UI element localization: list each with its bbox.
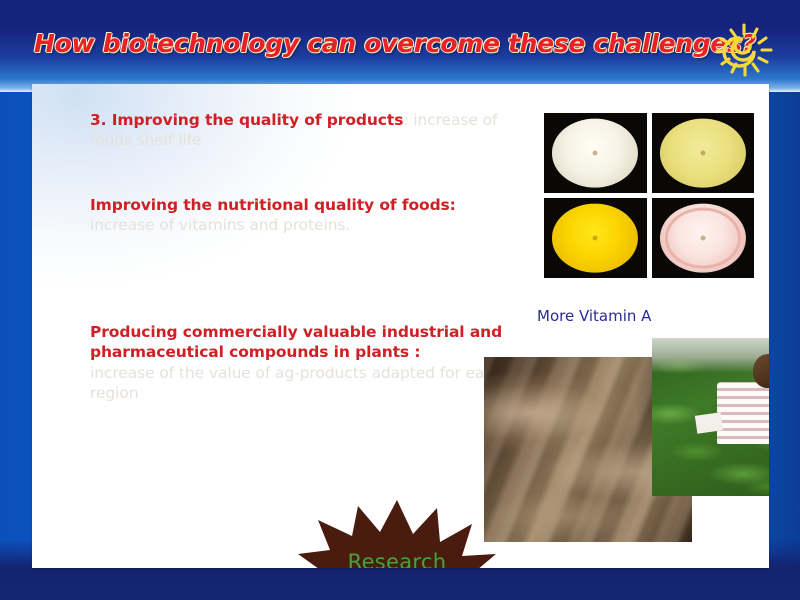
bullet-1-lead: 3. Improving the quality of products (90, 111, 403, 129)
bullet-block-2: Improving the nutritional quality of foo… (90, 195, 510, 236)
vitamin-a-caption: More Vitamin A (537, 307, 651, 325)
slice-cell-cream (652, 113, 755, 193)
research-callout[interactable]: Research (296, 498, 498, 568)
bullet-block-3: Producing commercially valuable industri… (90, 322, 510, 404)
starburst-icon (296, 498, 498, 568)
bullet-3-sub: increase of the value of ag-products ada… (90, 363, 510, 404)
researcher-notebook (695, 412, 723, 433)
slice-core (593, 151, 598, 156)
bullet-2-sub: increase of vitamins and proteins. (90, 215, 510, 235)
bullet-block-1: 3. Improving the quality of products: in… (90, 110, 510, 151)
slice-core (593, 236, 598, 241)
slide-header: How biotechnology can overcome these cha… (0, 0, 800, 88)
researcher-shirt (717, 382, 769, 444)
slice-core (700, 151, 705, 156)
cassava-slice-grid (544, 113, 754, 278)
sky-layer (652, 338, 769, 373)
slice-cell-pink (652, 198, 755, 278)
slice-cell-yellow (544, 198, 647, 278)
slice-cell-white (544, 113, 647, 193)
researcher-field-photo (652, 338, 769, 496)
slide-content-panel: 3. Improving the quality of products: in… (32, 84, 769, 568)
slice-core (700, 236, 705, 241)
bullet-2-lead: Improving the nutritional quality of foo… (90, 195, 510, 215)
sun-icon (712, 21, 776, 79)
presentation-slide: How biotechnology can overcome these cha… (0, 0, 800, 600)
slide-title: How biotechnology can overcome these cha… (34, 29, 756, 58)
bullet-3-lead: Producing commercially valuable industri… (90, 322, 510, 363)
